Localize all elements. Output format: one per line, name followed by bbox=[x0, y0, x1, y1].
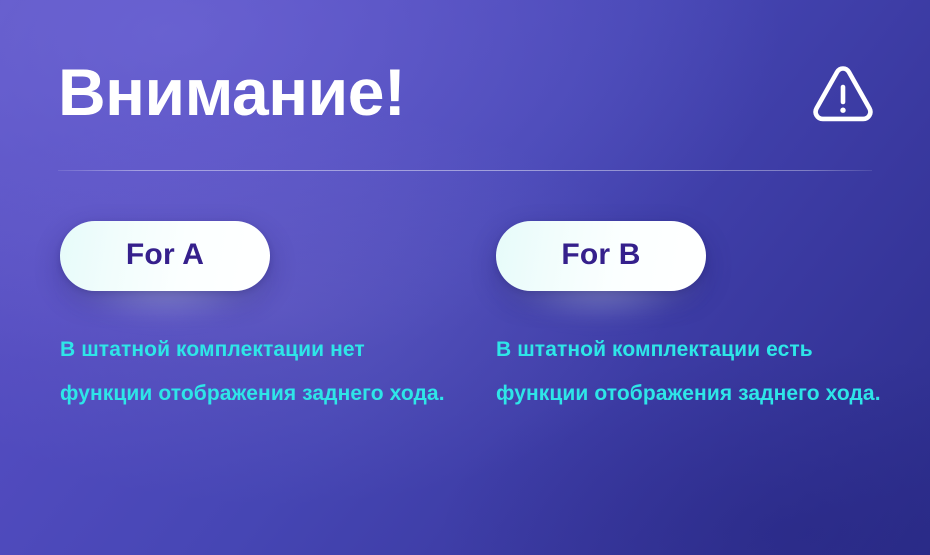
pill-a-label: For A bbox=[126, 240, 204, 270]
pill-button-for-b[interactable]: For B bbox=[496, 221, 706, 291]
pill-a-wrapper: For A bbox=[60, 210, 272, 302]
description-text-b: В штатной комплектации есть функции отоб… bbox=[496, 328, 891, 416]
pill-b-wrapper: For B bbox=[496, 210, 708, 302]
option-column-b: For B В штатной комплектации есть функци… bbox=[496, 210, 708, 302]
slide-content: Внимание! For A В штатной комплектации н… bbox=[0, 0, 930, 555]
option-column-a: For A В штатной комплектации нет функции… bbox=[60, 210, 272, 302]
pill-b-label: For B bbox=[561, 240, 640, 270]
description-text-a: В штатной комплектации нет функции отобр… bbox=[60, 328, 460, 416]
page-title: Внимание! bbox=[58, 52, 405, 132]
pill-button-for-a[interactable]: For A bbox=[60, 221, 270, 291]
header-divider bbox=[58, 170, 872, 171]
warning-triangle-icon bbox=[810, 62, 876, 126]
